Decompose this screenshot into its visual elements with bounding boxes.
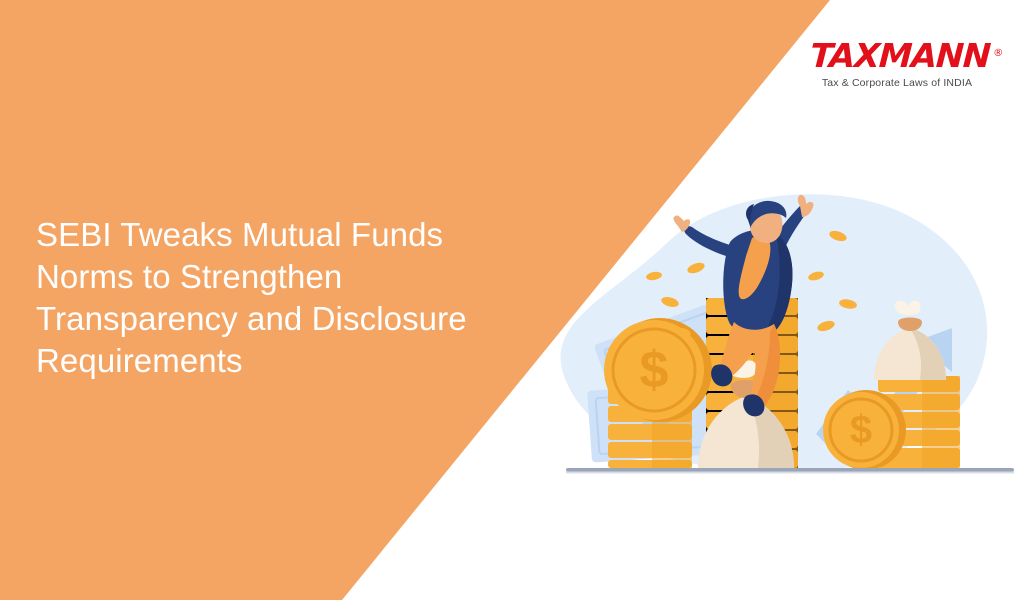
dollar-coin-left-symbol: $ [640, 341, 669, 399]
ground-line-icon [566, 468, 1014, 472]
dollar-coin-left-icon: $ [604, 318, 712, 422]
page-title: SEBI Tweaks Mutual Funds Norms to Streng… [36, 214, 516, 382]
logo-wordmark-text: TAXMANN [809, 36, 991, 75]
illustration-jumping-investor: $ [548, 180, 1018, 480]
promo-banner: SEBI Tweaks Mutual Funds Norms to Streng… [0, 0, 1024, 600]
dollar-coin-right-symbol: $ [850, 408, 872, 452]
registered-trademark-icon: ® [992, 36, 1004, 72]
dollar-coin-right-icon: $ [823, 390, 906, 470]
logo-tagline: Tax & Corporate Laws of INDIA [812, 77, 982, 89]
taxmann-logo: TAXMANN ® Tax & Corporate Laws of INDIA [812, 38, 982, 89]
logo-wordmark: TAXMANN ® [809, 38, 991, 74]
